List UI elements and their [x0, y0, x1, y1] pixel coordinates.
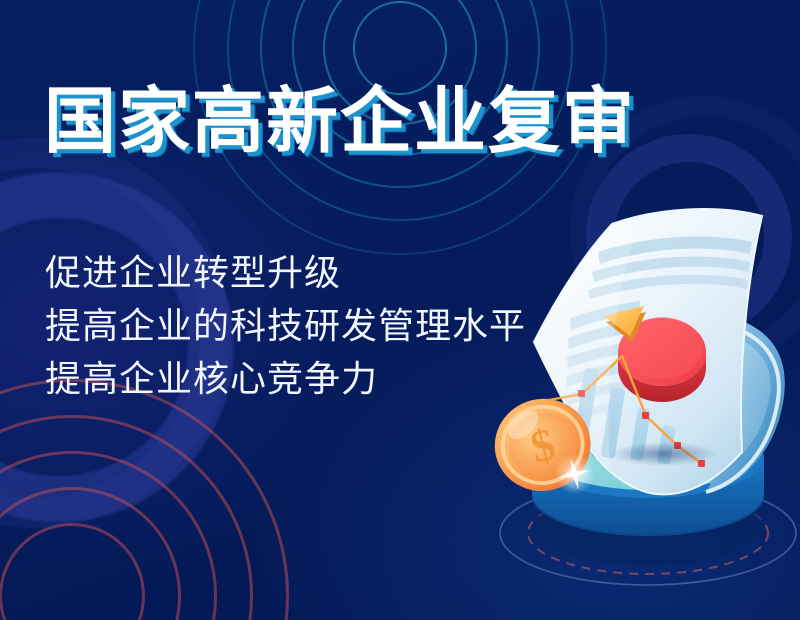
- red-arc-2: [0, 487, 181, 620]
- subtitle-list: 促进企业转型升级 提高企业的科技研发管理水平 提高企业核心竞争力: [45, 246, 526, 405]
- subtitle-line-3: 提高企业核心竞争力: [45, 352, 526, 405]
- illustration-report-on-podium: $: [470, 196, 800, 620]
- poster-canvas: 国家高新企业复审 促进企业转型升级 提高企业的科技研发管理水平 提高企业核心竞争…: [0, 0, 800, 620]
- red-arc-4: [0, 415, 253, 620]
- top-arc-1: [353, 1, 447, 95]
- subtitle-line-2: 提高企业的科技研发管理水平: [45, 299, 526, 352]
- red-arc-5: [0, 379, 289, 620]
- page-title: 国家高新企业复审: [44, 86, 636, 158]
- document-contact-shadow: [610, 442, 718, 466]
- red-arc-3: [0, 451, 217, 620]
- subtitle-line-1: 促进企业转型升级: [45, 246, 526, 299]
- red-arc-1: [0, 523, 145, 620]
- bottom-left-red-arcs-decor: [0, 376, 292, 620]
